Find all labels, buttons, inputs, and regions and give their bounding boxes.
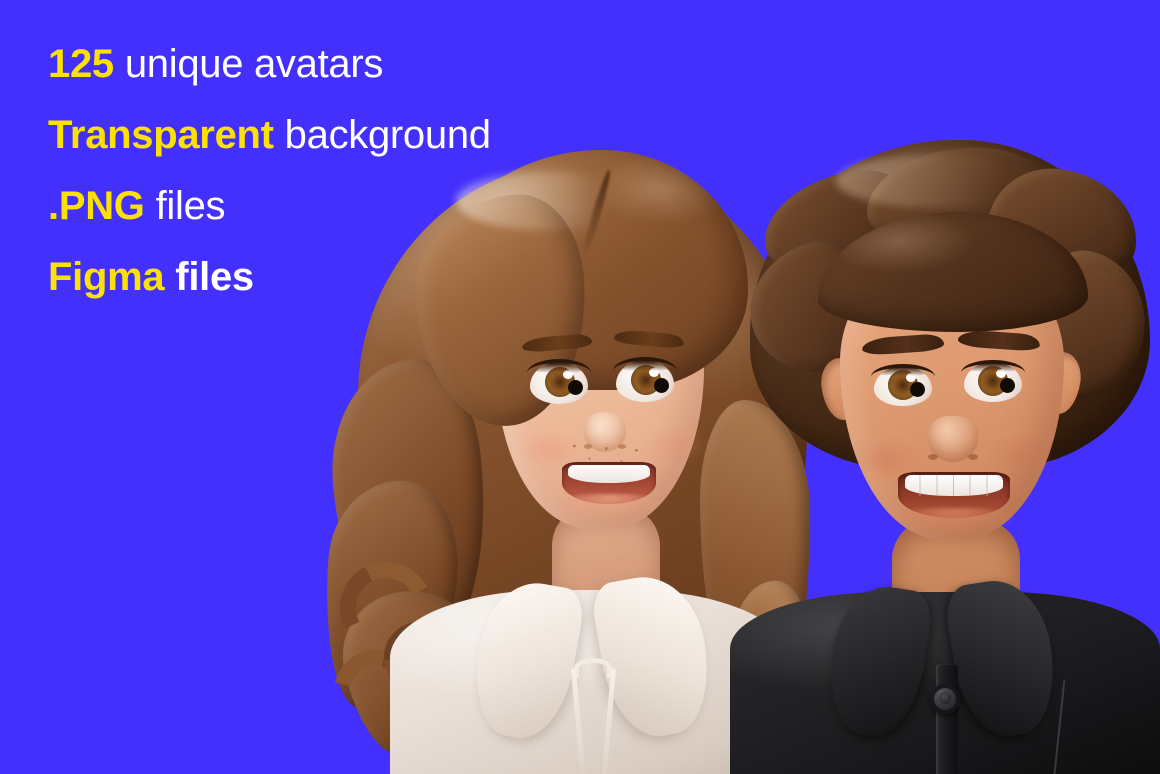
teeth (568, 465, 650, 483)
pupil (568, 380, 583, 395)
hair-highlight (836, 154, 1046, 208)
nostril (584, 444, 592, 449)
left-eye (874, 366, 932, 406)
feature-text: unique avatars (125, 44, 383, 84)
feature-highlight: Transparent (48, 115, 274, 155)
feature-highlight: .PNG (48, 186, 145, 226)
cheek-blush (648, 428, 704, 462)
right-eye (616, 360, 674, 402)
teeth (905, 475, 1003, 496)
feature-highlight: 125 (48, 44, 114, 84)
lower-lip (894, 508, 1014, 530)
jacket-button (930, 684, 960, 714)
right-eye (964, 362, 1022, 402)
pupil (1000, 378, 1015, 393)
drawstring-loop (574, 658, 612, 678)
male-avatar-illustration (740, 140, 1160, 774)
feature-highlight: Figma (48, 257, 164, 297)
list-item: .PNG files (48, 186, 491, 257)
feature-text: background (285, 115, 491, 155)
cheek-shading (992, 436, 1054, 474)
list-item: Transparent background (48, 115, 491, 186)
pupil (654, 378, 669, 393)
nostril (618, 444, 626, 449)
list-item: Figma files (48, 257, 491, 328)
list-item: 125 unique avatars (48, 44, 491, 115)
nostril (928, 454, 938, 460)
lower-lip (558, 494, 660, 514)
nostril (968, 454, 978, 460)
jacket-placket (936, 664, 958, 774)
feature-list: 125 unique avatars Transparent backgroun… (48, 44, 491, 328)
left-eye (530, 362, 588, 404)
feature-text: files (175, 257, 254, 297)
feature-text: files (156, 186, 226, 226)
promo-banner: 125 unique avatars Transparent backgroun… (0, 0, 1160, 774)
pupil (910, 382, 925, 397)
